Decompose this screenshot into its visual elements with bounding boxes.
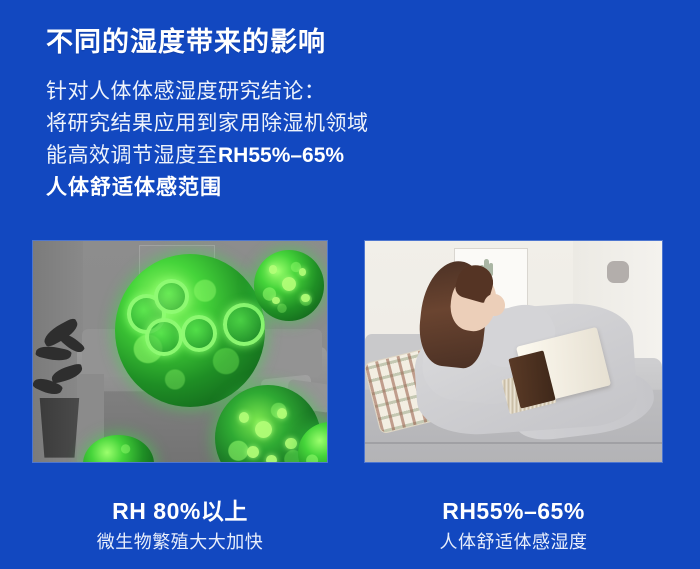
microbe-spike [266, 455, 277, 462]
microbe-cell [145, 318, 182, 356]
microbe-cell [181, 315, 217, 352]
caption-title: RH 80%以上 [33, 496, 327, 526]
microbe-spike [272, 297, 280, 305]
page-title: 不同的湿度带来的影响 [46, 20, 326, 59]
body-copy-line-4: 人体舒适体感范围 [46, 172, 476, 204]
body-copy-line-1: 针对人体体感湿度研究结论： [46, 76, 476, 108]
body-copy-line-2: 将研究结果应用到家用除湿机领域 [46, 108, 476, 140]
caption-subtitle: 人体舒适体感湿度 [365, 529, 662, 555]
caption-high-humidity: RH 80%以上 微生物繁殖大大加快 [33, 496, 327, 555]
microbe-spike [255, 421, 272, 438]
body-copy-line-3: 能高效调节湿度至RH55%–65% [46, 140, 476, 172]
microbe-spike [299, 268, 307, 276]
body-copy-line-3-prefix: 能高效调节湿度至 [46, 144, 218, 167]
microbe-spike [282, 277, 296, 291]
photo-high-humidity [33, 241, 327, 462]
caption-title: RH55%–65% [365, 496, 662, 526]
microbe-sphere-small [254, 250, 325, 321]
microbe-sphere-right [298, 422, 327, 462]
bright-room-scene [365, 241, 662, 462]
body-copy-line-3-highlight: RH55%–65% [218, 144, 344, 167]
microbe-cell [154, 279, 188, 314]
photo-comfort-humidity [365, 241, 662, 462]
microbe-spike [301, 294, 309, 302]
caption-subtitle: 微生物繁殖大大加快 [33, 529, 327, 555]
microbe-spike [285, 438, 297, 450]
body-copy-block: 针对人体体感湿度研究结论： 将研究结果应用到家用除湿机领域 能高效调节湿度至RH… [46, 76, 476, 204]
microbe-spike [239, 412, 250, 423]
microbe-spike [269, 265, 277, 273]
caption-comfort-humidity: RH55%–65% 人体舒适体感湿度 [365, 496, 662, 555]
wall-speaker [607, 261, 629, 283]
dim-room-scene [33, 241, 327, 462]
humidity-comparison-poster: 不同的湿度带来的影响 针对人体体感湿度研究结论： 将研究结果应用到家用除湿机领域… [0, 0, 700, 569]
microbe-sphere-edge [83, 435, 154, 462]
sofa-seam [365, 442, 662, 444]
microbe-spike [277, 408, 288, 419]
microbe-spike [247, 446, 259, 458]
